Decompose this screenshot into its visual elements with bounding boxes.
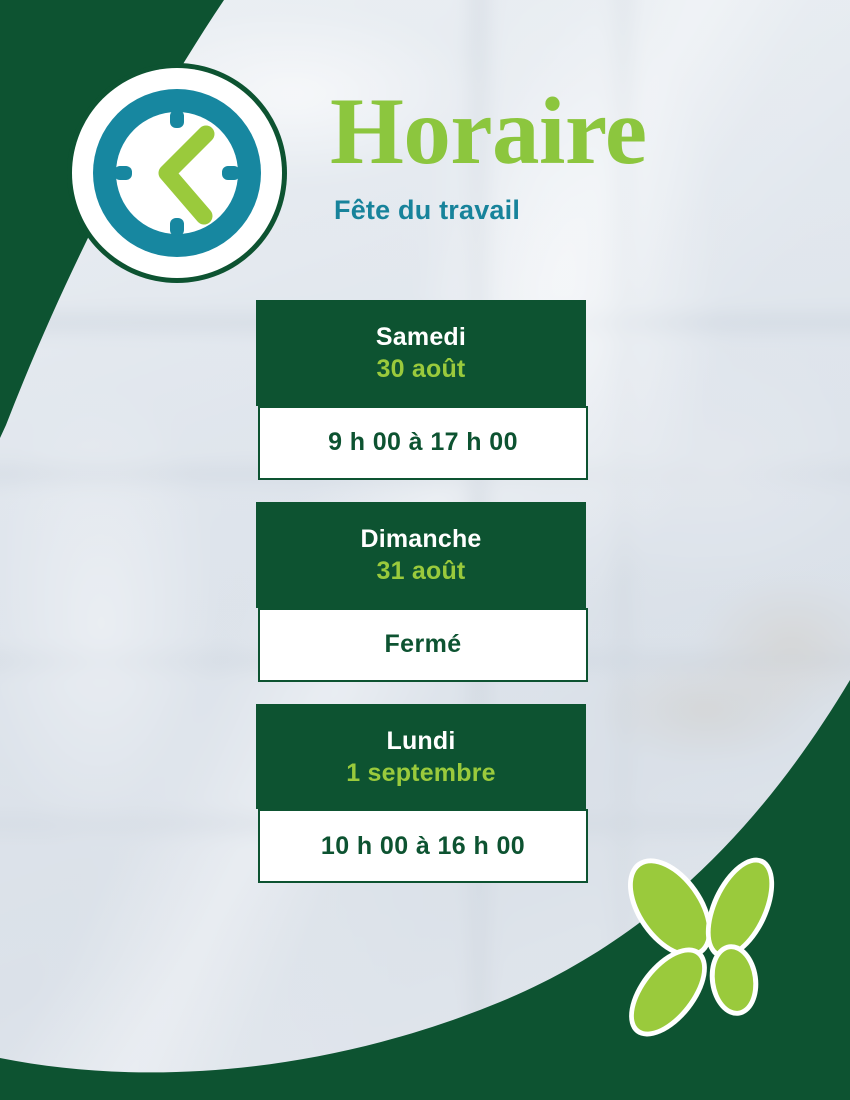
schedule-card-header: Samedi 30 août: [256, 300, 586, 406]
schedule-card-day: Samedi: [256, 322, 586, 353]
schedule-card-header: Lundi 1 septembre: [256, 704, 586, 810]
title-block: Horaire Fête du travail: [330, 84, 730, 226]
schedule-card: Lundi 1 septembre 10 h 00 à 16 h 00: [256, 704, 596, 884]
schedule-card-hours: 9 h 00 à 17 h 00: [328, 428, 518, 457]
schedule-card-body: 9 h 00 à 17 h 00: [258, 406, 588, 480]
schedule-card-list: Samedi 30 août 9 h 00 à 17 h 00 Dimanche…: [256, 300, 596, 883]
schedule-card-hours: 10 h 00 à 16 h 00: [321, 832, 525, 861]
schedule-card-hours: Fermé: [384, 630, 461, 659]
schedule-card: Dimanche 31 août Fermé: [256, 502, 596, 682]
horaire-poster: Horaire Fête du travail Samedi 30 août 9…: [0, 0, 850, 1100]
butterfly-logo-icon: [612, 852, 802, 1052]
schedule-card-header: Dimanche 31 août: [256, 502, 586, 608]
schedule-card-body: Fermé: [258, 608, 588, 682]
schedule-card-day: Dimanche: [256, 524, 586, 555]
page-subtitle: Fête du travail: [334, 195, 730, 226]
schedule-card-date: 31 août: [256, 555, 586, 588]
schedule-card-date: 30 août: [256, 353, 586, 386]
schedule-card-body: 10 h 00 à 16 h 00: [258, 809, 588, 883]
clock-icon: [66, 62, 288, 284]
page-title: Horaire: [330, 84, 730, 179]
schedule-card-day: Lundi: [256, 726, 586, 757]
schedule-card: Samedi 30 août 9 h 00 à 17 h 00: [256, 300, 596, 480]
schedule-card-date: 1 septembre: [256, 757, 586, 790]
